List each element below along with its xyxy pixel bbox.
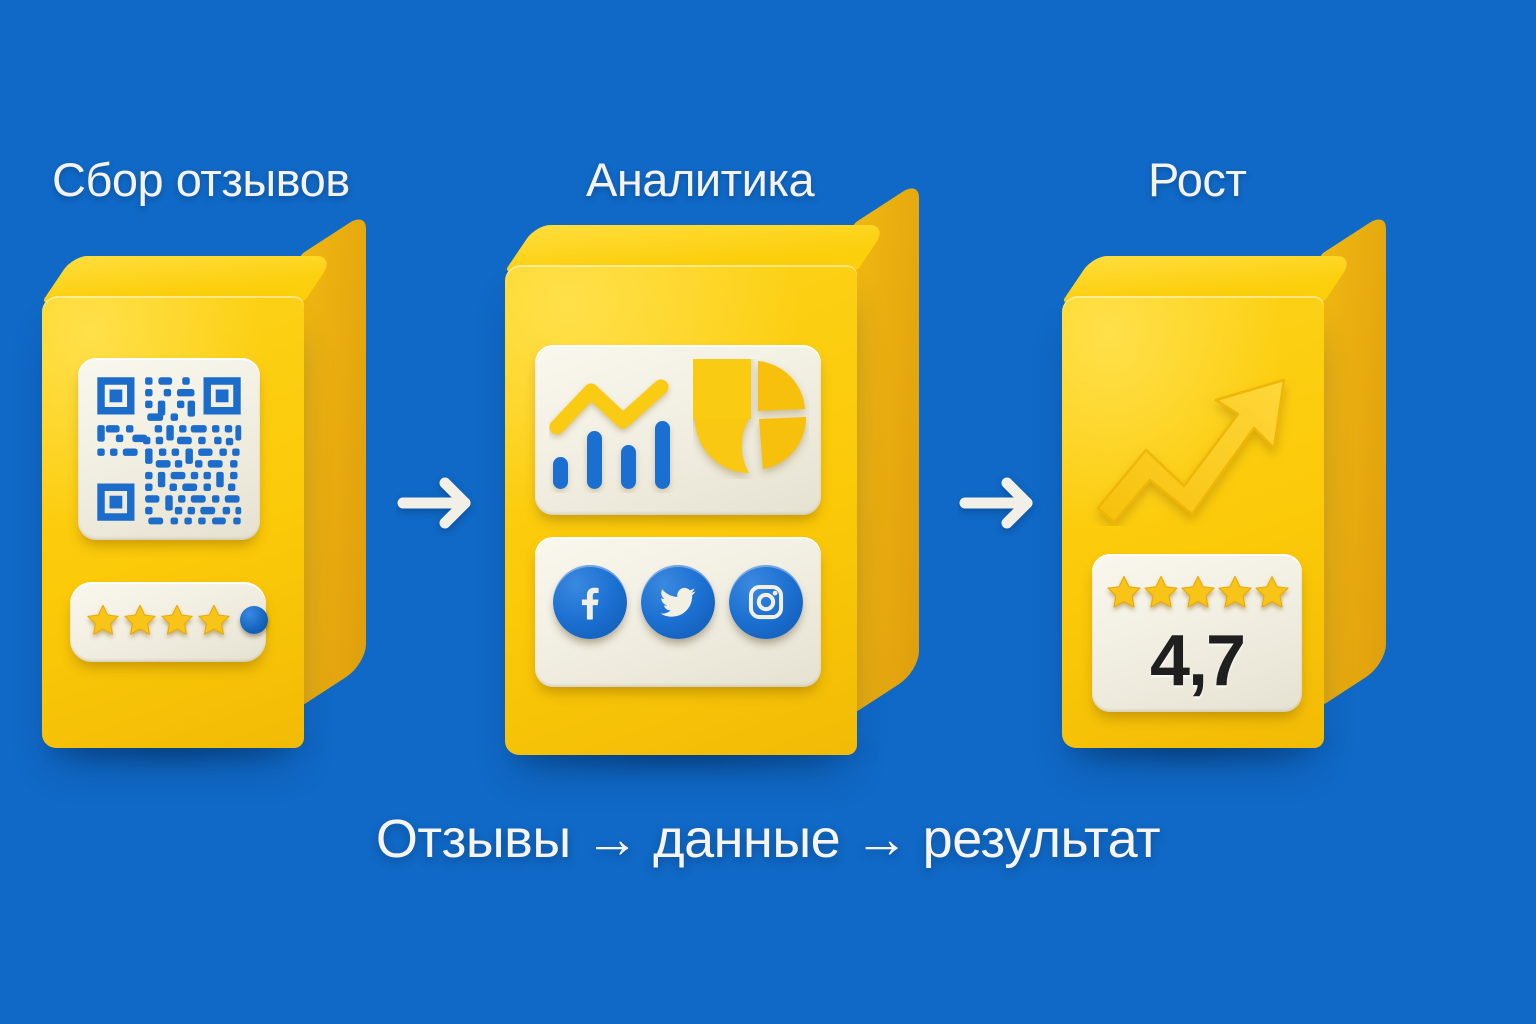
- connector-arrow-right-2: [958, 470, 1044, 536]
- star-icon: [1254, 574, 1290, 610]
- qr-code-icon: [92, 372, 246, 526]
- analytics-chart-tile[interactable]: [535, 345, 821, 515]
- card-analytics[interactable]: [505, 265, 857, 755]
- step-label-analytics: Аналитика: [586, 152, 814, 207]
- star-icon: [1143, 574, 1179, 610]
- qr-code-tile[interactable]: [78, 358, 260, 540]
- star-icon: [1180, 574, 1216, 610]
- instagram-icon: [745, 581, 787, 623]
- twitter-button[interactable]: [641, 565, 715, 639]
- rating-strip-tile[interactable]: [70, 582, 266, 662]
- card-front-face: 4,7: [1062, 296, 1324, 748]
- star-icon: [160, 603, 194, 637]
- blue-dot-indicator: [240, 606, 268, 634]
- star-rating-4: [86, 603, 268, 637]
- pie-chart-icon: [693, 359, 809, 479]
- star-icon: [123, 603, 157, 637]
- bar-line-chart-icon: [549, 365, 699, 493]
- trend-up-arrow-icon: [1088, 358, 1304, 526]
- facebook-button[interactable]: [553, 565, 627, 639]
- star-icon: [86, 603, 120, 637]
- instagram-button[interactable]: [729, 565, 803, 639]
- card-collect-reviews[interactable]: [42, 296, 304, 748]
- star-icon: [1106, 574, 1142, 610]
- twitter-icon: [657, 581, 699, 623]
- star-icon: [1217, 574, 1253, 610]
- step-label-collect: Сбор отзывов: [52, 152, 350, 207]
- card-growth[interactable]: 4,7: [1062, 296, 1324, 748]
- social-networks-tile[interactable]: [535, 537, 821, 687]
- connector-arrow-right-1: [396, 470, 482, 536]
- facebook-icon: [569, 581, 611, 623]
- rating-score-tile[interactable]: 4,7: [1092, 554, 1302, 712]
- star-icon: [197, 603, 231, 637]
- card-front-face: [42, 296, 304, 748]
- rating-score-value: 4,7: [1092, 620, 1302, 702]
- flow-caption: Отзывы → данные → результат: [0, 808, 1536, 870]
- card-front-face: [505, 265, 857, 755]
- star-rating-5: [1106, 574, 1290, 610]
- step-label-growth: Рост: [1148, 152, 1246, 207]
